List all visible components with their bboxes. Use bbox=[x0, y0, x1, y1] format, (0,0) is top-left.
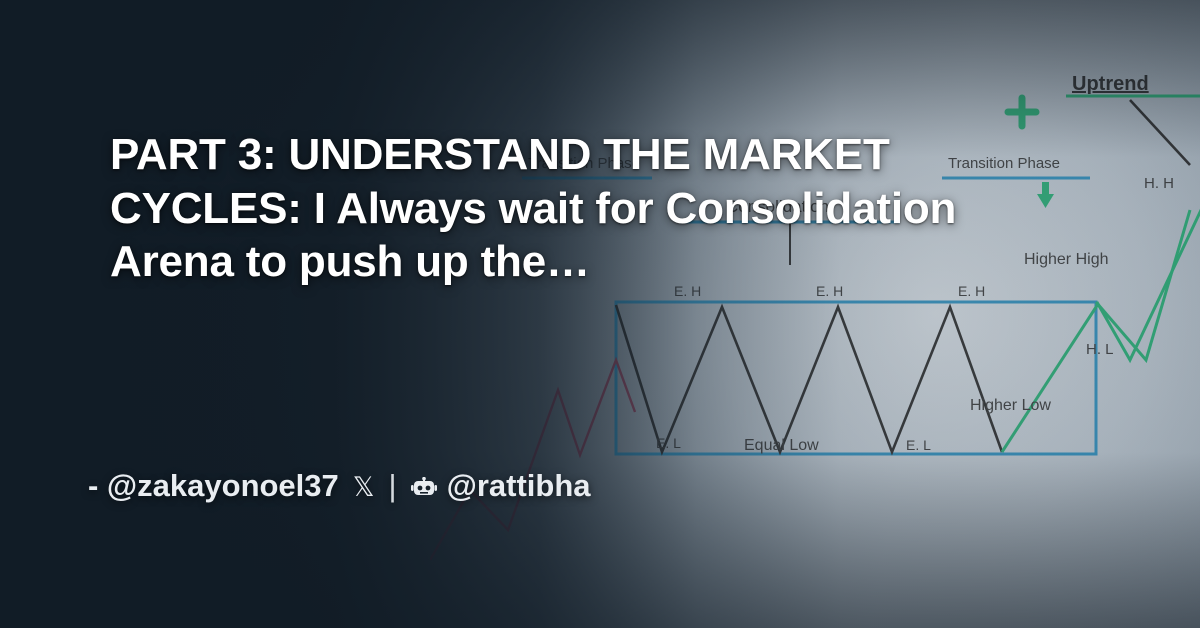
author-handle: - @zakayonoel37 bbox=[88, 468, 339, 504]
x-logo-icon: 𝕏 bbox=[353, 474, 375, 501]
card-content: PART 3: UNDERSTAND THE MARKET CYCLES: I … bbox=[0, 0, 1200, 628]
card-title: PART 3: UNDERSTAND THE MARKET CYCLES: I … bbox=[110, 128, 1090, 289]
social-share-card: Uptrend Transition Phase Transition Phas… bbox=[0, 0, 1200, 628]
byline-separator: | bbox=[389, 468, 397, 504]
robot-icon bbox=[411, 477, 437, 499]
card-byline: - @zakayonoel37 𝕏 | @rattibha bbox=[88, 468, 591, 504]
platform-handle: @rattibha bbox=[447, 468, 591, 504]
